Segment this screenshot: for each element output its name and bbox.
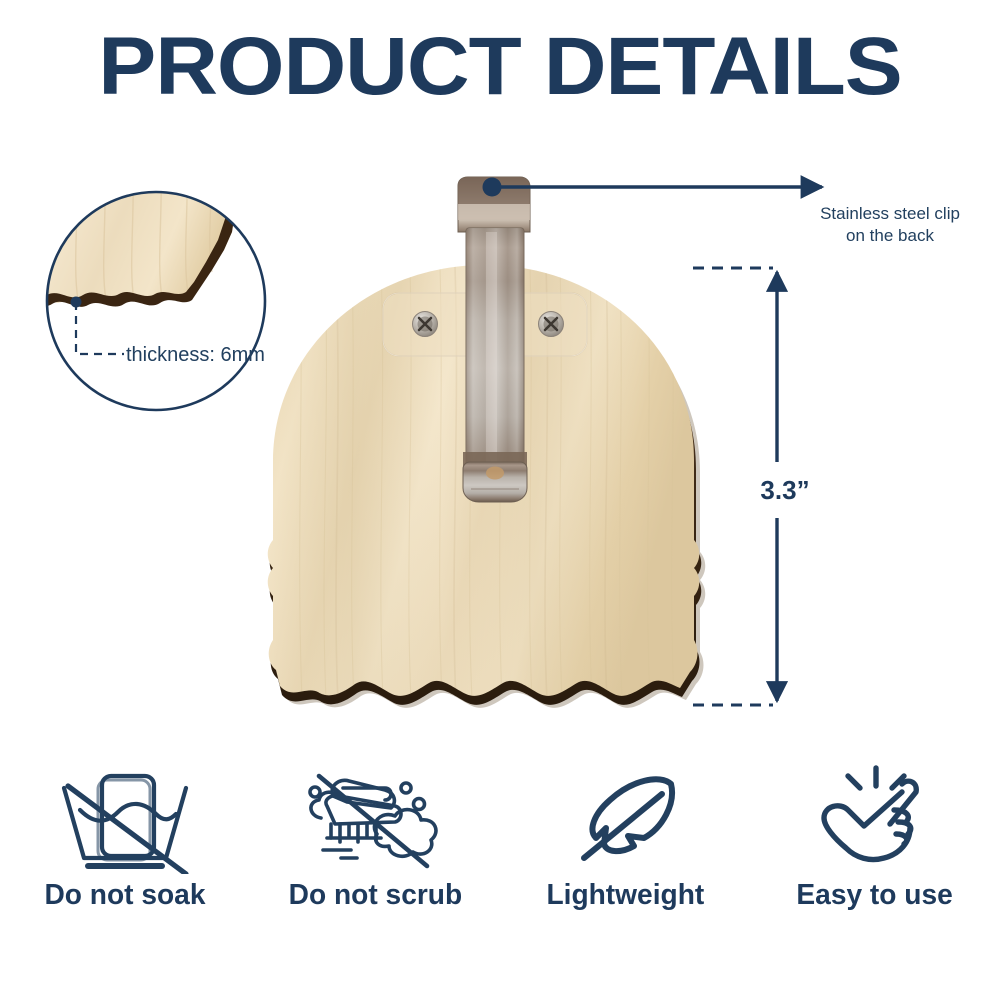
feather-icon — [540, 760, 710, 875]
clip-callout-line2: on the back — [790, 225, 990, 247]
clip-callout-arrow — [483, 178, 823, 197]
feature-label: Do not scrub — [288, 879, 461, 912]
feature-easy-to-use: Easy to use — [750, 760, 1000, 940]
tap-hand-icon — [790, 760, 960, 875]
clip-dot-marker — [483, 178, 502, 197]
feature-lightweight: Lightweight — [500, 760, 750, 940]
infographic-canvas: PRODUCT DETAILS — [0, 0, 1000, 1000]
feature-label: Easy to use — [797, 879, 953, 912]
height-dimension-label: 3.3” — [735, 472, 835, 509]
thickness-label: thickness: 6mm — [126, 344, 265, 367]
feature-label: Lightweight — [546, 879, 704, 912]
clip-callout-label: Stainless steel clip on the back — [790, 203, 990, 247]
clip-callout-line1: Stainless steel clip — [790, 203, 990, 225]
feature-do-not-scrub: Do not scrub — [250, 760, 500, 940]
no-soak-icon — [40, 760, 210, 875]
feature-label: Do not soak — [45, 879, 206, 912]
no-scrub-icon — [285, 760, 465, 875]
feature-do-not-soak: Do not soak — [0, 760, 250, 940]
feature-row: Do not soak — [0, 760, 1000, 940]
